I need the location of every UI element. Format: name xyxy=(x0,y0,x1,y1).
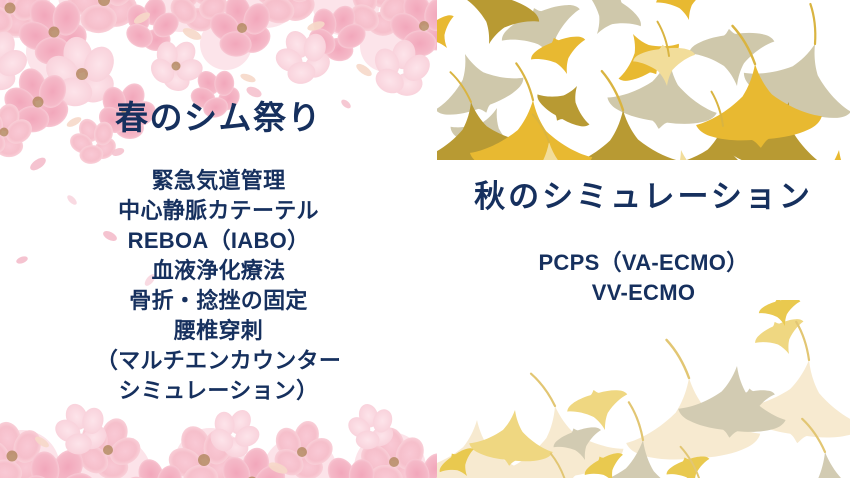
list-item: シミュレーション） xyxy=(0,376,437,406)
spring-item-list: 緊急気道管理 中心静脈カテーテル REBOA（IABO） 血液浄化療法 骨折・捻… xyxy=(0,166,437,406)
list-item: VV-ECMO xyxy=(437,278,850,308)
cherry-blossom-top-decoration xyxy=(0,0,437,164)
list-item: 腰椎穿刺 xyxy=(0,316,437,346)
autumn-panel: 秋のシミュレーション PCPS（VA-ECMO） VV-ECMO xyxy=(437,0,850,478)
list-item: 緊急気道管理 xyxy=(0,166,437,196)
list-item: （マルチエンカウンター xyxy=(0,346,437,376)
list-item: 血液浄化療法 xyxy=(0,256,437,286)
spring-title: 春のシム祭り xyxy=(0,98,437,138)
list-item: PCPS（VA-ECMO） xyxy=(437,248,850,278)
list-item: 中心静脈カテーテル xyxy=(0,196,437,226)
list-item: REBOA（IABO） xyxy=(0,226,437,256)
spring-panel: 春のシム祭り 緊急気道管理 中心静脈カテーテル REBOA（IABO） 血液浄化… xyxy=(0,0,437,478)
autumn-title: 秋のシミュレーション xyxy=(437,178,850,215)
slide-canvas: 春のシム祭り 緊急気道管理 中心静脈カテーテル REBOA（IABO） 血液浄化… xyxy=(0,0,850,478)
ginkgo-leaf-bottom-decoration xyxy=(437,300,850,478)
list-item: 骨折・捻挫の固定 xyxy=(0,286,437,316)
ginkgo-leaf-top-decoration xyxy=(437,0,850,160)
autumn-item-list: PCPS（VA-ECMO） VV-ECMO xyxy=(437,248,850,308)
